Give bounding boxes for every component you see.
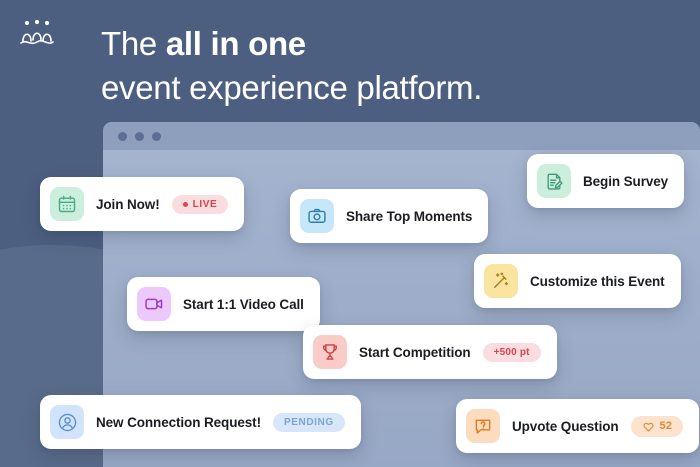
card-label: Start Competition [359,345,471,360]
card-share-top-moments[interactable]: Share Top Moments [290,189,488,243]
headline-emphasis: all in one [166,25,306,62]
card-new-connection-request[interactable]: New Connection Request! PENDING [40,395,361,449]
browser-titlebar [103,122,700,150]
card-join-now[interactable]: Join Now! LIVE [40,177,244,231]
card-label: Begin Survey [583,174,668,189]
badge-text: LIVE [193,199,218,210]
card-start-competition[interactable]: Start Competition +500 pt [303,325,557,379]
user-circle-icon [50,405,84,439]
window-dot-3[interactable] [152,132,161,141]
card-label: Join Now! [96,197,160,212]
video-camera-icon [137,287,171,321]
card-label: Share Top Moments [346,209,472,224]
status-badge-pending: PENDING [273,413,345,432]
heart-icon [642,420,655,433]
headline-prefix: The [101,25,166,62]
magic-wand-icon [484,264,518,298]
page-title: The all in one event experience platform… [101,22,621,109]
card-label: Start 1:1 Video Call [183,297,304,312]
headline-line-2: event experience platform. [101,66,621,110]
camera-icon [300,199,334,233]
card-upvote-question[interactable]: Upvote Question 52 [456,399,699,453]
trophy-icon [313,335,347,369]
points-badge: +500 pt [483,343,541,362]
window-dot-1[interactable] [118,132,127,141]
badge-text: 52 [660,420,673,432]
card-label: Upvote Question [512,419,619,434]
card-customize-event[interactable]: Customize this Event [474,254,681,308]
card-start-video-call[interactable]: Start 1:1 Video Call [127,277,320,331]
status-badge-live: LIVE [172,195,229,214]
badge-text: +500 pt [494,347,530,358]
window-dot-2[interactable] [135,132,144,141]
promo-banner: The all in one event experience platform… [0,0,700,467]
card-label: Customize this Event [530,274,665,289]
live-dot-icon [183,202,188,207]
card-label: New Connection Request! [96,415,261,430]
calendar-icon [50,187,84,221]
question-bubble-icon [466,409,500,443]
survey-clipboard-icon [537,164,571,198]
headline-line-1: The all in one [101,22,621,66]
upvote-count-badge[interactable]: 52 [631,416,684,437]
badge-text: PENDING [284,417,334,428]
three-people-logo-icon[interactable] [20,18,54,48]
card-begin-survey[interactable]: Begin Survey [527,154,684,208]
